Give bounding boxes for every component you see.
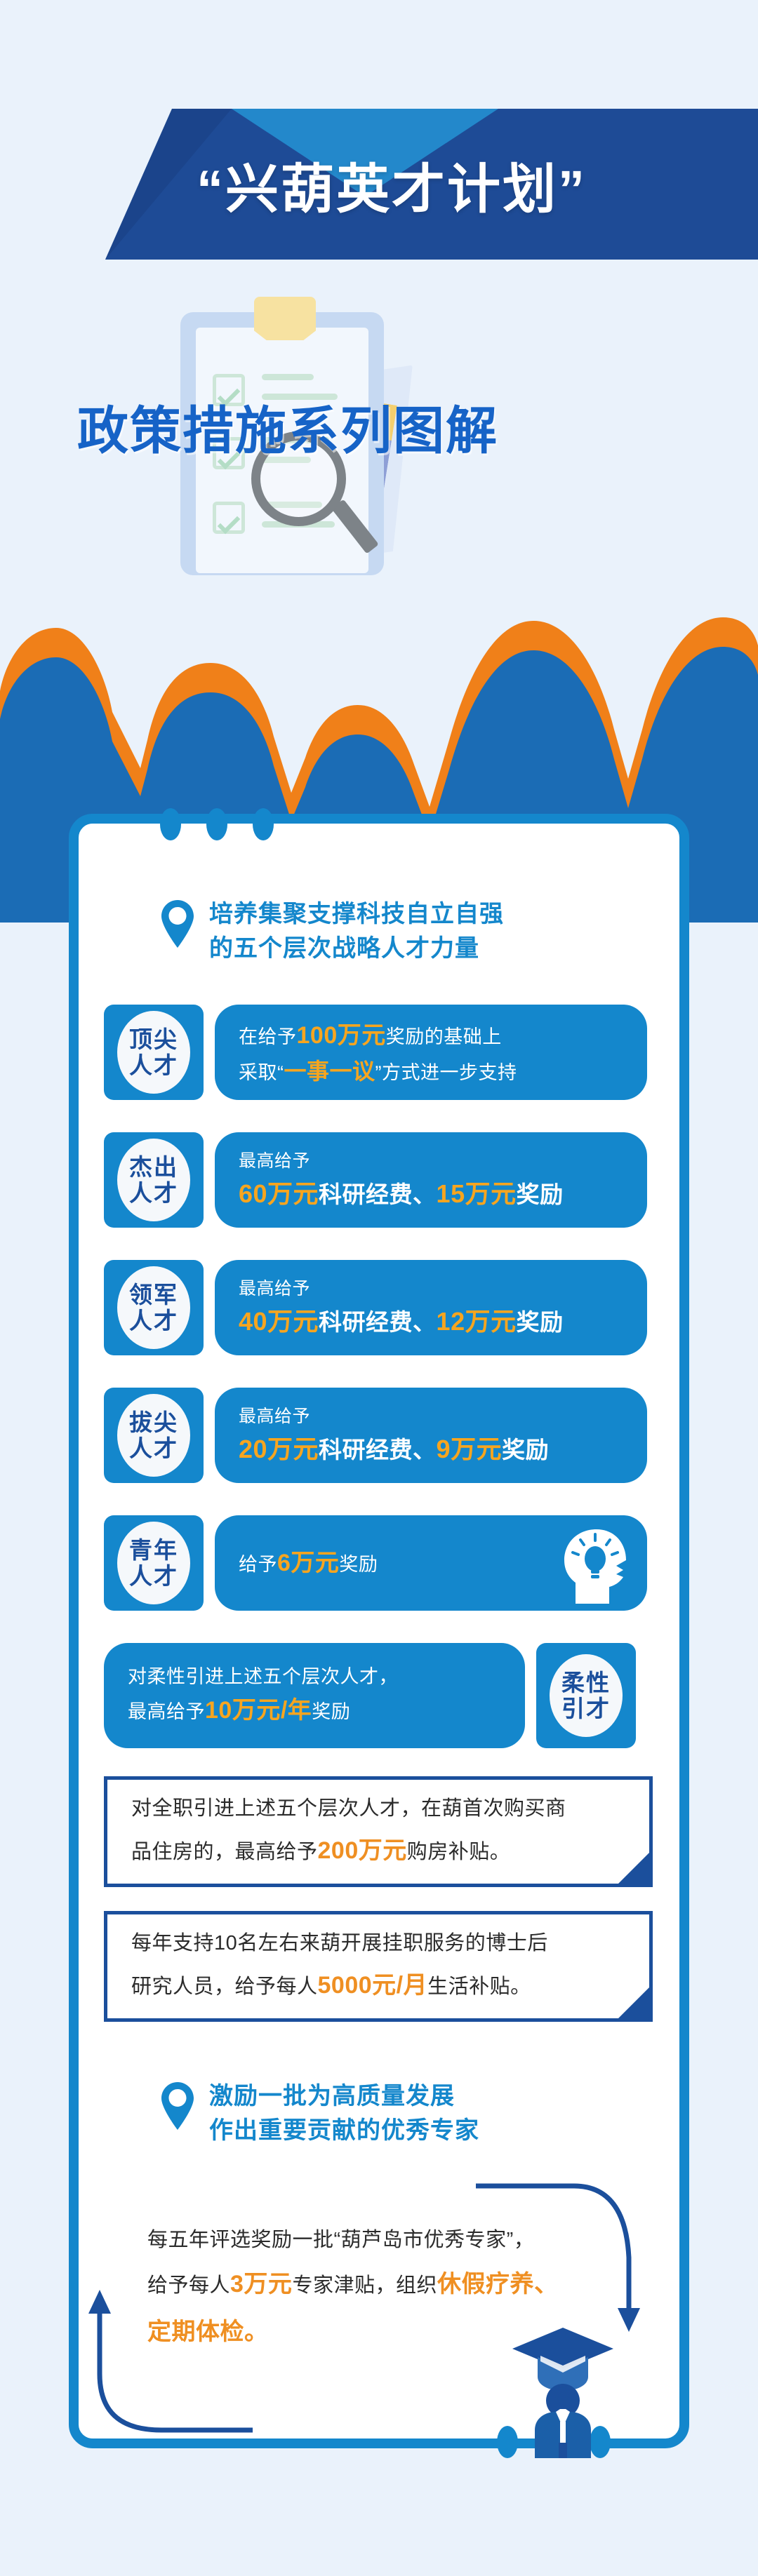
ring-icon — [253, 808, 274, 840]
tier-badge-line2: 人才 — [129, 1180, 178, 1206]
tier-badge-line2: 人才 — [129, 1052, 178, 1078]
tier-badge-line1: 顶尖 — [129, 1026, 178, 1052]
tier-amounts: 20万元科研经费、9万元奖励 — [239, 1430, 623, 1469]
tier-line-2: 采取“一事一议”方式进一步支持 — [239, 1054, 623, 1089]
tier-description: 在给予100万元奖励的基础上 采取“一事一议”方式进一步支持 — [215, 1005, 647, 1100]
note-box-postdoc-subsidy: 每年支持10名左右来葫开展挂职服务的博士后 研究人员，给予每人5000元/月生活… — [104, 1911, 653, 2022]
flexible-badge-line2: 引才 — [561, 1696, 611, 1722]
ring-icon — [206, 808, 227, 840]
tier-row-top-talent: 顶尖 人才 在给予100万元奖励的基础上 采取“一事一议”方式进一步支持 — [104, 1005, 647, 1100]
flexible-badge-label: 柔性 引才 — [550, 1654, 623, 1737]
graduate-person-icon — [507, 2325, 619, 2458]
tier-badge-line2: 人才 — [129, 1435, 178, 1461]
flexible-talent-description: 对柔性引进上述五个层次人才， 最高给予10万元/年奖励 — [104, 1643, 525, 1748]
tier-badge-line2: 人才 — [129, 1563, 178, 1589]
note-line-1: 对全职引进上述五个层次人才，在葫首次购买商 — [131, 1790, 625, 1828]
tier-badge-line1: 杰出 — [129, 1154, 178, 1180]
tier-description: 最高给予 60万元科研经费、15万元奖励 — [215, 1132, 647, 1228]
location-pin-icon — [161, 2082, 194, 2130]
tier-prefix: 最高给予 — [239, 1275, 623, 1303]
tier-badge-line2: 人才 — [129, 1308, 178, 1334]
flexible-badge-line1: 柔性 — [561, 1670, 611, 1696]
note-line-1: 每年支持10名左右来葫开展挂职服务的博士后 — [131, 1924, 625, 1963]
flexible-line-2: 最高给予10万元/年奖励 — [128, 1692, 501, 1729]
tier-description: 最高给予 40万元科研经费、12万元奖励 — [215, 1260, 647, 1355]
tier-badge-line1: 领军 — [129, 1282, 178, 1308]
tier-description: 给予6万元奖励 — [215, 1515, 647, 1611]
tier-badge-label: 杰出 人才 — [117, 1139, 190, 1221]
curved-arrow-up-icon — [84, 2269, 260, 2451]
page-subtitle: 政策措施系列图解 — [77, 389, 709, 464]
tier-row-outstanding-talent: 杰出 人才 最高给予 60万元科研经费、15万元奖励 — [104, 1132, 647, 1228]
tier-badge-label: 顶尖 人才 — [117, 1011, 190, 1094]
tier-amounts: 60万元科研经费、15万元奖励 — [239, 1174, 623, 1214]
tier-badge: 领军 人才 — [104, 1260, 204, 1355]
paper-line-1 — [262, 374, 314, 380]
magnifier-handle — [331, 499, 379, 554]
tier-prefix: 最高给予 — [239, 1403, 623, 1430]
tier-badge: 青年 人才 — [104, 1515, 204, 1611]
ring-icon — [160, 808, 181, 840]
flexible-talent-badge: 柔性 引才 — [536, 1643, 636, 1748]
brain-lightbulb-icon — [559, 1525, 634, 1604]
note-box-housing-subsidy: 对全职引进上述五个层次人才，在葫首次购买商 品住房的，最高给予200万元购房补贴… — [104, 1776, 653, 1887]
tier-badge-label: 拔尖 人才 — [117, 1394, 190, 1477]
notebook-rings-top — [79, 808, 699, 839]
tier-row-elite-talent: 拔尖 人才 最高给予 20万元科研经费、9万元奖励 — [104, 1388, 647, 1483]
tier-amounts: 40万元科研经费、12万元奖励 — [239, 1302, 623, 1341]
curved-arrow-down-icon — [469, 2180, 644, 2349]
tier-badge-label: 领军 人才 — [117, 1266, 190, 1349]
title-banner: “兴葫英才计划” — [105, 109, 758, 260]
note-line-2: 品住房的，最高给予200万元购房补贴。 — [131, 1828, 625, 1874]
section1-heading: 培养集聚支撑科技自立自强的五个层次战略人才力量 — [161, 897, 504, 967]
tier-badge-line1: 青年 — [129, 1537, 178, 1563]
hero-section: “兴葫英才计划” 政策措施系列图解 — [0, 0, 758, 631]
tier-badge: 杰出 人才 — [104, 1132, 204, 1228]
infographic-page: “兴葫英才计划” 政策措施系列图解 — [0, 0, 758, 2576]
section1-heading-text: 培养集聚支撑科技自立自强的五个层次战略人才力量 — [209, 897, 504, 967]
tier-prefix: 最高给予 — [239, 1148, 623, 1175]
note-line-2: 研究人员，给予每人5000元/月生活补贴。 — [131, 1963, 625, 2008]
tier-row-young-talent: 青年 人才 给予6万元奖励 — [104, 1515, 647, 1611]
main-content-card: 培养集聚支撑科技自立自强的五个层次战略人才力量 顶尖 人才 在给予100万元奖励… — [69, 814, 689, 2448]
location-pin-icon — [161, 900, 194, 948]
clipboard-clip — [254, 297, 316, 340]
flexible-talent-row: 对柔性引进上述五个层次人才， 最高给予10万元/年奖励 柔性 引才 — [104, 1643, 636, 1748]
tier-description: 最高给予 20万元科研经费、9万元奖励 — [215, 1388, 647, 1483]
banner-title-text: “兴葫英才计划” — [105, 109, 758, 260]
section2-heading-text: 激励一批为高质量发展作出重要贡献的优秀专家 — [209, 2079, 479, 2149]
section2-heading: 激励一批为高质量发展作出重要贡献的优秀专家 — [161, 2079, 479, 2149]
flexible-line-1: 对柔性引进上述五个层次人才， — [128, 1663, 501, 1692]
tier-row-leading-talent: 领军 人才 最高给予 40万元科研经费、12万元奖励 — [104, 1260, 647, 1355]
tier-badge: 顶尖 人才 — [104, 1005, 204, 1100]
tier-badge-line1: 拔尖 — [129, 1409, 178, 1435]
tier-line-1: 在给予100万元奖励的基础上 — [239, 1017, 623, 1054]
tier-badge: 拔尖 人才 — [104, 1388, 204, 1483]
tier-badge-label: 青年 人才 — [117, 1522, 190, 1604]
